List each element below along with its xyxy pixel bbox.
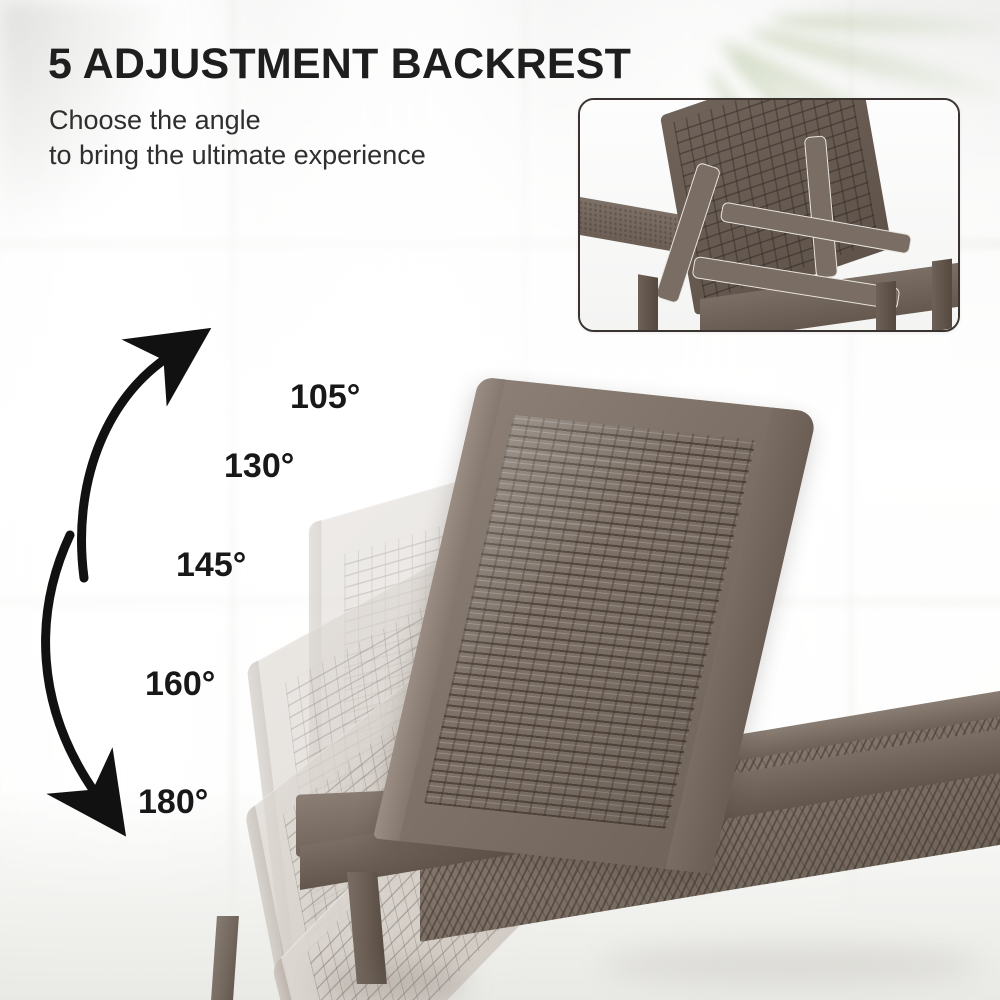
floor-contact-shadow [318, 966, 468, 1000]
floor-contact-shadow [600, 944, 980, 984]
chaise-lounge-illustration [0, 0, 1000, 1000]
infographic-canvas: 5 ADJUSTMENT BACKREST Choose the angle t… [0, 0, 1000, 1000]
